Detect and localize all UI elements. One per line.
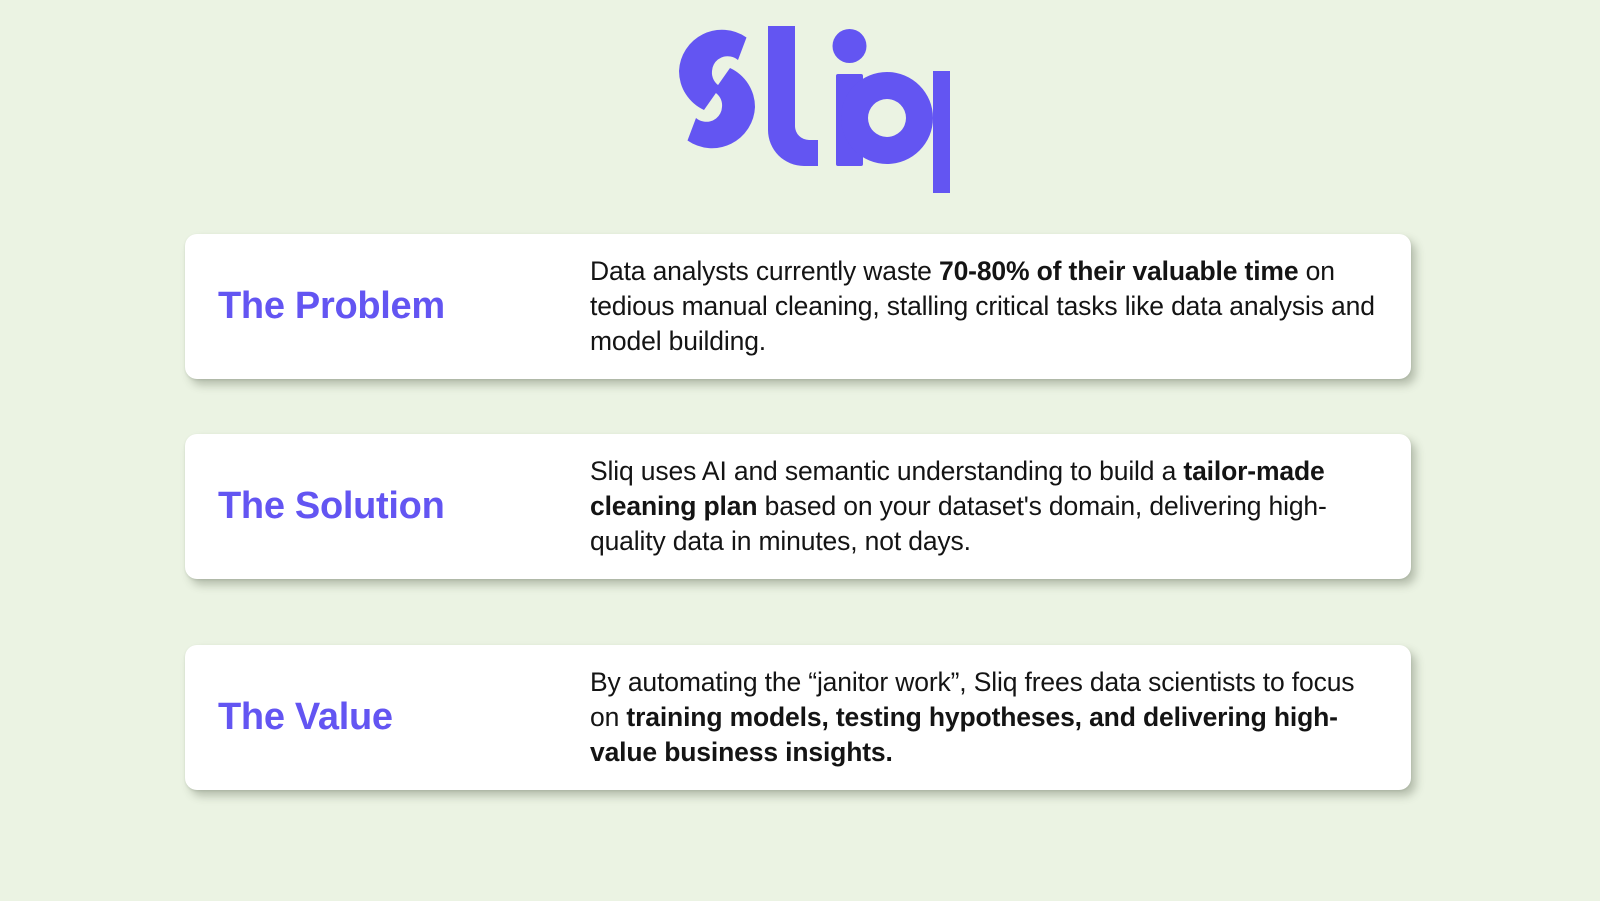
card-body-the-problem: Data analysts currently waste 70-80% of … xyxy=(590,254,1387,360)
card-title-the-problem: The Problem xyxy=(185,286,590,328)
slide-root: The Problem Data analysts currently wast… xyxy=(0,0,1600,901)
card-title-the-value: The Value xyxy=(185,697,590,739)
sliq-wordmark-icon xyxy=(650,8,950,198)
brand-logo xyxy=(0,8,1600,208)
card-the-solution: The Solution Sliq uses AI and semantic u… xyxy=(185,434,1411,579)
card-body-the-solution: Sliq uses AI and semantic understanding … xyxy=(590,454,1387,560)
card-the-value: The Value By automating the “janitor wor… xyxy=(185,645,1411,790)
card-body-the-value: By automating the “janitor work”, Sliq f… xyxy=(590,665,1387,771)
card-title-the-solution: The Solution xyxy=(185,486,590,528)
card-the-problem: The Problem Data analysts currently wast… xyxy=(185,234,1411,379)
cards-container: The Problem Data analysts currently wast… xyxy=(185,234,1411,790)
